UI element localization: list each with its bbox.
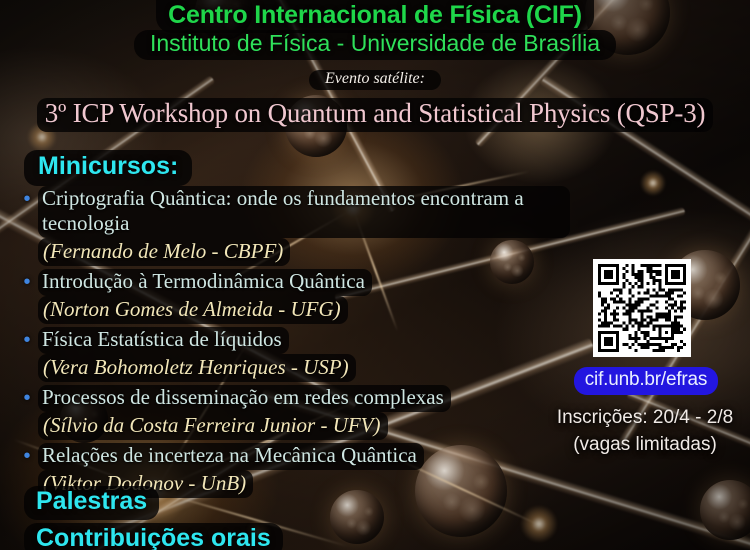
bullet-icon: • [16, 385, 38, 411]
organization-title-text: Centro Internacional de Física (CIF) [156, 0, 594, 33]
organization-subtitle-text: Instituto de Física - Universidade de Br… [134, 30, 616, 60]
poster-canvas: Centro Internacional de Física (CIF) Ins… [0, 0, 750, 550]
course-title-row: • Criptografia Quântica: onde os fundame… [16, 186, 570, 238]
footer-section-contribuicoes: Contribuições orais [24, 523, 283, 550]
registration-info: Inscrições: 20/4 - 2/8 (vagas limitadas) [540, 404, 750, 458]
footer-section-label: Contribuições orais [24, 523, 283, 550]
bullet-icon: • [16, 443, 38, 469]
footer-section-palestras: Palestras [24, 486, 283, 520]
course-author-row: (Sílvio da Costa Ferreira Junior - UFV) [16, 412, 570, 440]
list-item: • Introdução à Termodinâmica Quântica (N… [16, 269, 570, 324]
footer-section-label: Palestras [24, 486, 159, 520]
minicourses-list: • Criptografia Quântica: onde os fundame… [16, 186, 570, 501]
course-title: Processos de disseminação em redes compl… [38, 385, 451, 412]
satellite-event-label-text: Evento satélite: [309, 70, 441, 90]
list-item: • Física Estatística de líquidos (Vera B… [16, 327, 570, 382]
course-title: Física Estatística de líquidos [38, 327, 289, 354]
course-author: (Sílvio da Costa Ferreira Junior - UFV) [38, 412, 388, 440]
minicourses-heading-text: Minicursos: [24, 150, 192, 186]
organization-title: Centro Internacional de Física (CIF) [0, 0, 750, 33]
course-title-row: • Relações de incerteza na Mecânica Quân… [16, 443, 570, 470]
list-item: • Processos de disseminação em redes com… [16, 385, 570, 440]
course-author-row: (Norton Gomes de Almeida - UFG) [16, 296, 570, 324]
course-title-row: • Introdução à Termodinâmica Quântica [16, 269, 570, 296]
course-author: (Norton Gomes de Almeida - UFG) [38, 296, 348, 324]
registration-dates: Inscrições: 20/4 - 2/8 [540, 404, 750, 431]
footer-sections: Palestras Contribuições orais [24, 486, 283, 550]
course-title: Introdução à Termodinâmica Quântica [38, 269, 372, 296]
bullet-icon: • [16, 186, 38, 212]
course-title: Criptografia Quântica: onde os fundament… [38, 186, 570, 238]
registration-note: (vagas limitadas) [540, 431, 750, 458]
satellite-event-label: Evento satélite: [0, 70, 750, 90]
organization-subtitle: Instituto de Física - Universidade de Br… [0, 30, 750, 60]
course-author-row: (Vera Bohomoletz Henriques - USP) [16, 354, 570, 382]
list-item: • Criptografia Quântica: onde os fundame… [16, 186, 570, 266]
course-title-row: • Processos de disseminação em redes com… [16, 385, 570, 412]
minicourses-heading: Minicursos: [24, 150, 192, 186]
course-author: (Vera Bohomoletz Henriques - USP) [38, 354, 356, 382]
bullet-icon: • [16, 269, 38, 295]
course-author: (Fernando de Melo - CBPF) [38, 238, 290, 266]
course-title-row: • Física Estatística de líquidos [16, 327, 570, 354]
bullet-icon: • [16, 327, 38, 353]
event-title: 3º ICP Workshop on Quantum and Statistic… [0, 98, 750, 132]
registration-url-text[interactable]: cif.unb.br/efras [574, 367, 718, 395]
qr-code[interactable] [593, 259, 691, 357]
registration-url[interactable]: cif.unb.br/efras [560, 367, 732, 395]
event-title-text: 3º ICP Workshop on Quantum and Statistic… [37, 98, 714, 132]
qr-code-canvas[interactable] [598, 264, 686, 352]
course-title: Relações de incerteza na Mecânica Quânti… [38, 443, 424, 470]
poster-content: Centro Internacional de Física (CIF) Ins… [0, 0, 750, 550]
course-author-row: (Fernando de Melo - CBPF) [16, 238, 570, 266]
